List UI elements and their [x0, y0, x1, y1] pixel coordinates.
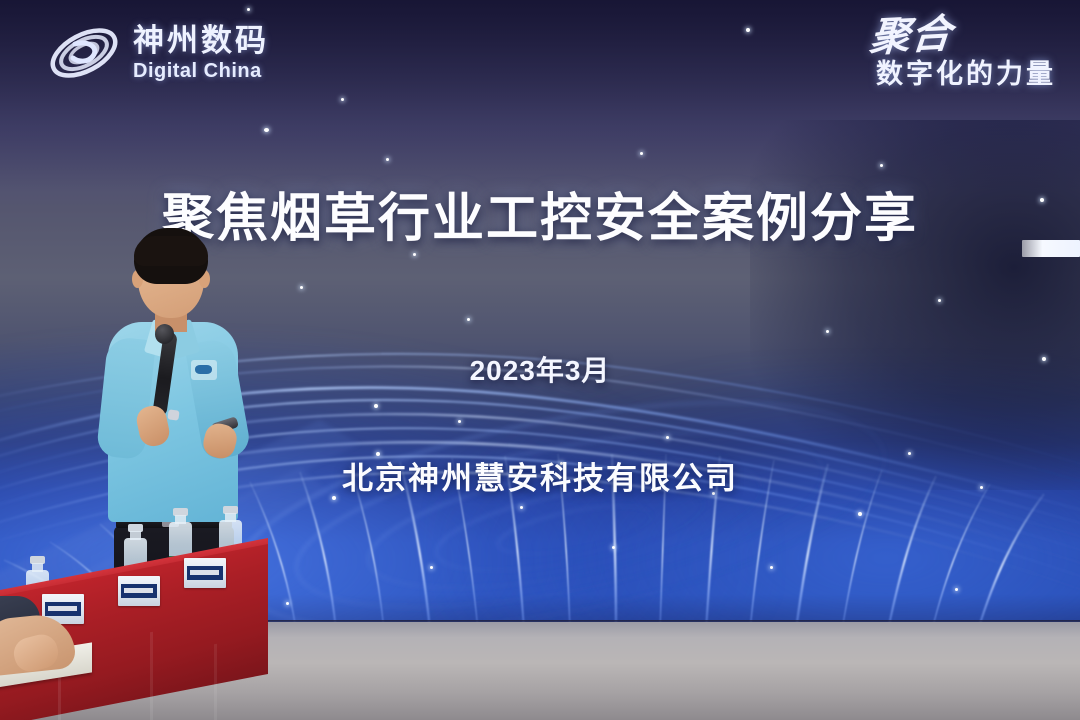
name-card-band — [45, 602, 81, 616]
event-calligraphy: 聚合 — [868, 14, 954, 58]
name-card-band — [121, 584, 157, 598]
speaker-shirt-logo — [191, 360, 217, 380]
screen-edge-text-fragment — [1022, 240, 1080, 257]
logo-name-en: Digital China — [133, 61, 269, 81]
digital-china-wordmark: 神州数码 Digital China — [133, 25, 269, 81]
microphone-tip — [167, 409, 179, 420]
table-cloth-fold — [214, 644, 217, 720]
name-card-band — [187, 566, 223, 580]
digital-china-logo: 神州数码 Digital China — [45, 22, 269, 84]
logo-name-cn: 神州数码 — [133, 25, 269, 56]
table-cloth-fold — [150, 632, 153, 720]
name-card — [118, 576, 160, 606]
name-card — [184, 558, 226, 588]
conference-stage-photo: 神州数码 Digital China 聚合 数字化的力量 聚焦烟草行业工控安全案… — [0, 0, 1080, 720]
speaker-hair-fringe — [134, 236, 208, 266]
event-logo: 聚合 数字化的力量 — [870, 16, 1056, 91]
digital-china-swirl-icon — [45, 22, 123, 84]
